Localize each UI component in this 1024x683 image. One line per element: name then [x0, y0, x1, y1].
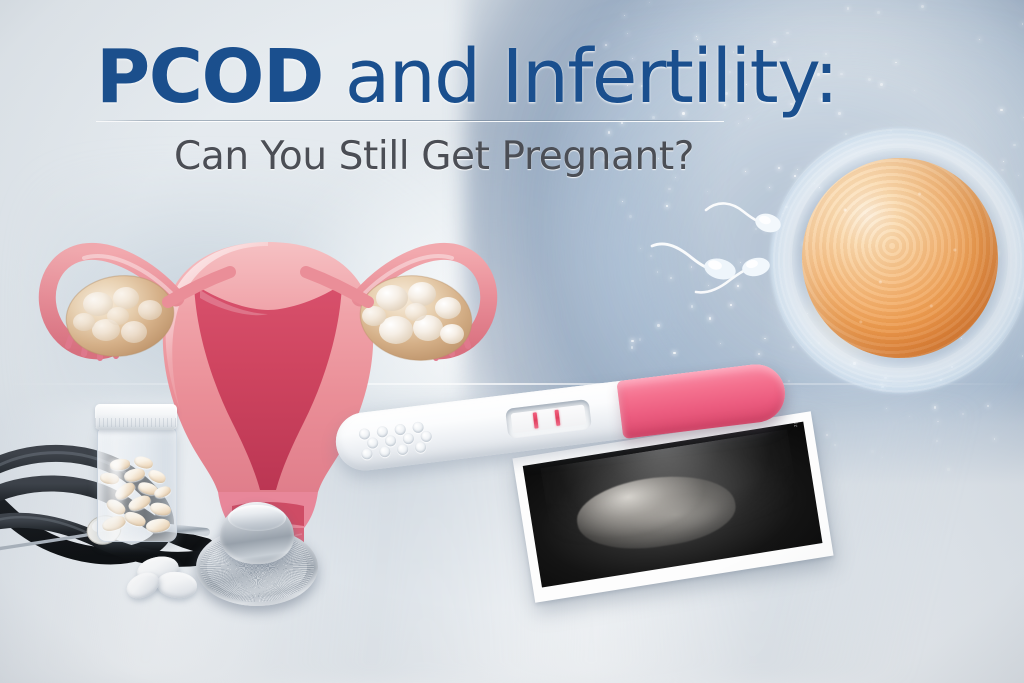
- pill-bottle-body: [97, 428, 177, 542]
- pill-bottle-highlight: [110, 459, 122, 542]
- stethoscope-chestpiece: [196, 502, 318, 606]
- pregnancy-test-control-line: [533, 412, 539, 428]
- chestpiece-drum-top: [228, 505, 286, 531]
- pill-bottle: [93, 404, 179, 544]
- ovum-egg-cell: [770, 128, 1024, 393]
- page-subtitle: Can You Still Get Pregnant?: [174, 137, 756, 178]
- page-title-rest-part: and Infertility:: [323, 34, 838, 120]
- ovum-cytoplasm: [802, 158, 998, 358]
- pregnancy-test-cap: [616, 361, 788, 439]
- ovum-cytoplasm-texture: [802, 158, 998, 358]
- ultrasound-marker-text: 3D 1.5MHz: [788, 422, 799, 429]
- hero-banner: 3D 1.5MHz: [0, 0, 1024, 683]
- title-block: PCOD and Infertility: Can You Still Get …: [96, 42, 756, 178]
- page-title-bold-part: PCOD: [96, 34, 323, 120]
- pregnancy-test-result-line: [554, 410, 560, 426]
- pill-bottle-cap: [95, 404, 177, 430]
- page-title: PCOD and Infertility:: [96, 42, 756, 113]
- sperm-cell-3: [694, 254, 780, 298]
- title-divider: [96, 120, 724, 121]
- pregnancy-test-strip: [511, 404, 587, 433]
- sperm-cell-1: [704, 198, 784, 238]
- chestpiece-drum: [220, 502, 294, 564]
